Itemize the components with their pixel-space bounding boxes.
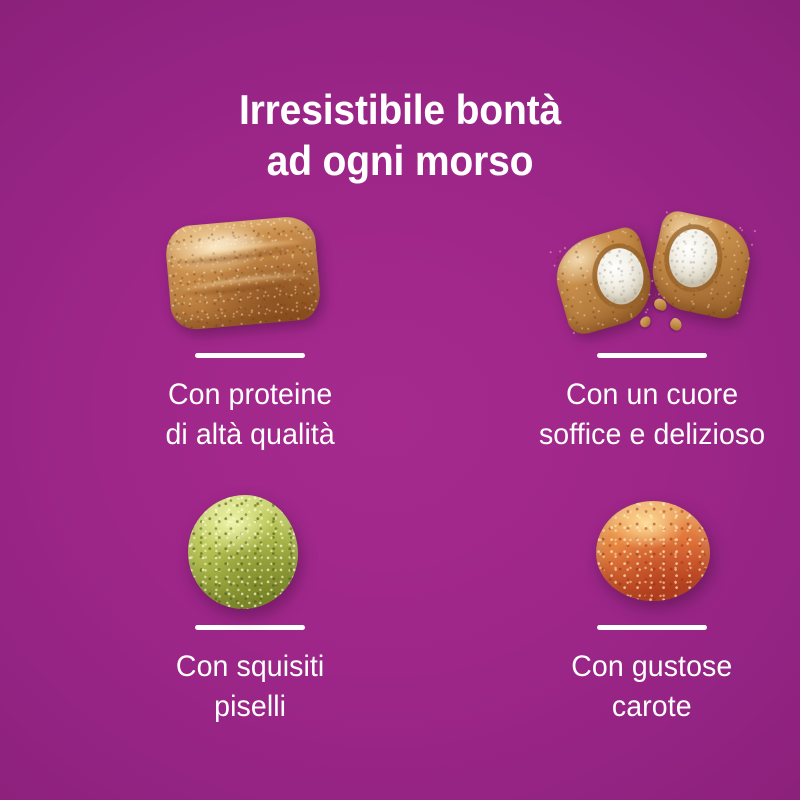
feature-item-proteine: Con proteine di altà qualità bbox=[0, 205, 400, 485]
caption-line-1: Con proteine bbox=[165, 375, 334, 415]
caption-line-1: Con un cuore bbox=[539, 375, 765, 415]
caption-line-2: piselli bbox=[176, 687, 324, 727]
pea-kibble-texture bbox=[188, 495, 298, 609]
page-title-line-2: ad ogni morso bbox=[28, 135, 772, 186]
feature-item-piselli: Con squisiti piselli bbox=[0, 485, 400, 765]
feature-divider-piselli bbox=[195, 625, 305, 630]
caption-line-1: Con squisiti bbox=[176, 647, 324, 687]
page-title: Irresistibile bontà ad ogni morso bbox=[28, 84, 772, 186]
whole-baked-biscuit-icon bbox=[164, 215, 322, 332]
product-benefits-poster: Irresistibile bontà ad ogni morso Con pr… bbox=[0, 0, 800, 800]
feature-image-piselli bbox=[150, 485, 350, 615]
feature-divider-cuore bbox=[597, 353, 707, 358]
feature-caption-carote: Con gustose carote bbox=[571, 647, 732, 726]
feature-divider-carote bbox=[597, 625, 707, 630]
feature-grid: Con proteine di altà qualità bbox=[0, 205, 800, 765]
caption-line-2: di altà qualità bbox=[165, 415, 334, 455]
page-title-line-1: Irresistibile bontà bbox=[28, 84, 772, 135]
caption-line-1: Con gustose bbox=[571, 647, 732, 687]
caption-line-2: soffice e delizioso bbox=[539, 415, 765, 455]
crumb-3 bbox=[668, 317, 684, 333]
feature-divider-proteine bbox=[195, 353, 305, 358]
feature-image-proteine bbox=[150, 205, 350, 340]
feature-caption-piselli: Con squisiti piselli bbox=[176, 647, 324, 726]
feature-image-carote bbox=[552, 485, 752, 615]
green-pea-kibble-icon bbox=[188, 495, 298, 609]
feature-caption-proteine: Con proteine di altà qualità bbox=[165, 375, 334, 454]
feature-item-cuore: Con un cuore soffice e delizioso bbox=[400, 205, 800, 485]
caption-line-2: carote bbox=[571, 687, 732, 727]
feature-item-carote: Con gustose carote bbox=[400, 485, 800, 765]
carrot-kibble-texture bbox=[596, 501, 710, 601]
feature-caption-cuore: Con un cuore soffice e delizioso bbox=[539, 375, 765, 454]
feature-image-cuore bbox=[552, 205, 752, 340]
split-biscuit-with-creamy-filling-icon bbox=[558, 213, 748, 333]
orange-carrot-kibble-icon bbox=[596, 501, 710, 601]
